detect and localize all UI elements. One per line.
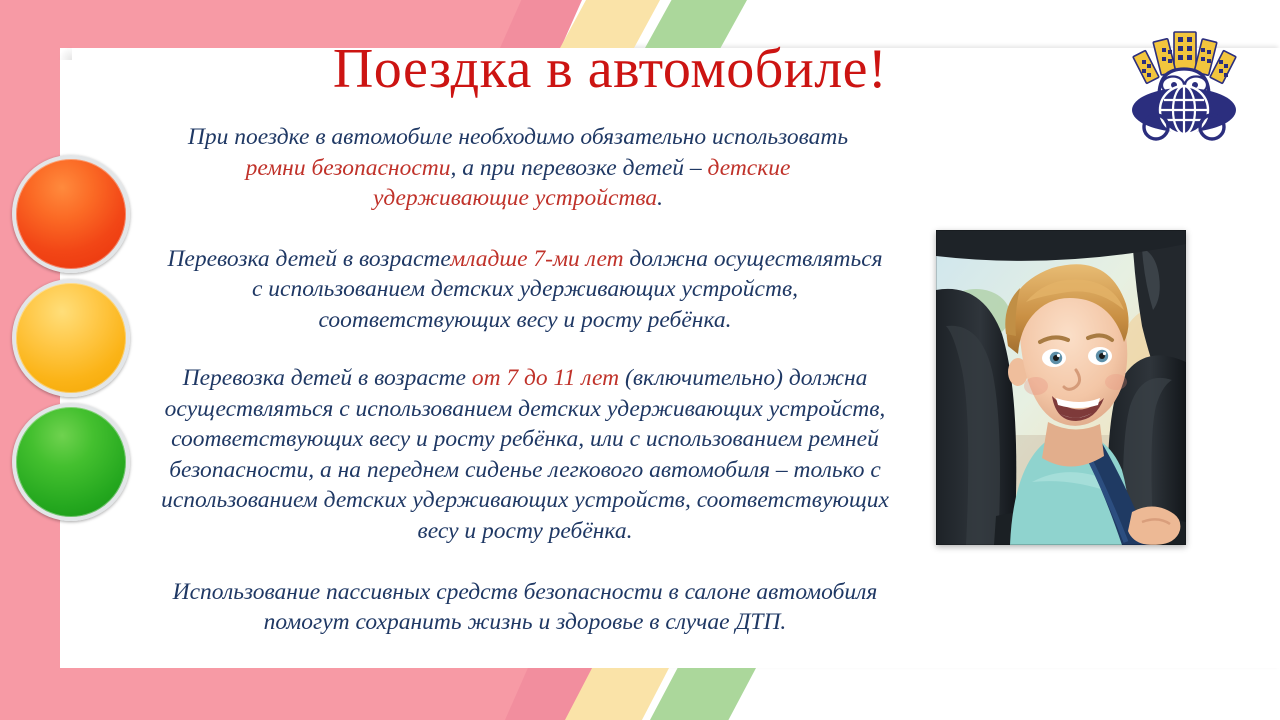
p4-segment-1: Использование пассивных средств безопасн… — [173, 579, 878, 636]
stripe-bottom-green — [650, 668, 756, 720]
paragraph-1: При поездке в автомобиле необходимо обяз… — [168, 122, 868, 214]
p3-highlight-7-to-11: от 7 до 11 лет — [472, 365, 619, 391]
green-light — [12, 403, 130, 521]
road-safety-globe-car-logo — [1128, 26, 1240, 142]
p3-segment-1: Перевозка детей в возрасте — [183, 365, 472, 391]
p2-segment-1: Перевозка детей в возрасте — [167, 246, 450, 272]
paragraph-2: Перевозка детей в возрастемладше 7-ми ле… — [160, 244, 890, 336]
stripe-bottom-pink — [505, 668, 593, 720]
p1-segment-1: При поездке в автомобиле необходимо обяз… — [188, 124, 848, 150]
amber-light — [12, 279, 130, 397]
paragraph-4: Использование пассивных средств безопасн… — [160, 577, 890, 638]
stripe-bottom-yellow — [565, 668, 669, 720]
page-title: Поездка в автомобиле! — [180, 40, 1040, 99]
traffic-light — [12, 155, 136, 523]
p1-highlight-seatbelts: ремни безопасности — [246, 155, 451, 181]
child-in-car-seat-photo — [936, 230, 1186, 545]
red-light — [12, 155, 130, 273]
p1-segment-3: . — [657, 185, 663, 211]
frame-bottom-band — [0, 668, 545, 720]
p1-segment-2: , а при перевозке детей – — [451, 155, 708, 181]
body-text-block: При поездке в автомобиле необходимо обяз… — [160, 122, 890, 638]
slide-root: Поездка в автомобиле! При поездке в авто… — [0, 0, 1280, 720]
p2-highlight-under-7: младше 7-ми лет — [450, 246, 623, 272]
paragraph-3: Перевозка детей в возрасте от 7 до 11 ле… — [160, 363, 890, 546]
p3-segment-2: (включительно) должна осуществляться с и… — [161, 365, 889, 544]
